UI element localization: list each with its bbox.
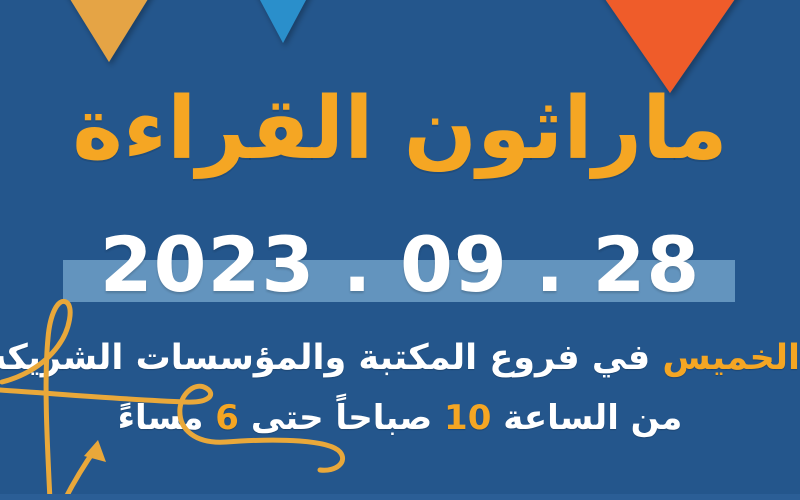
amber-triangle <box>52 0 166 62</box>
swirl-arrow-head <box>84 440 106 462</box>
page-title: ماراثون القراءة <box>0 86 800 172</box>
subtitle-line-1: الخميس في فروع المكتبة والمؤسسات الشريكة <box>0 336 800 380</box>
hours-end-time: 6 <box>215 398 239 438</box>
event-location-label: في فروع المكتبة والمؤسسات الشريكة <box>0 338 650 378</box>
hours-middle-label: صباحاً حتى <box>251 398 432 438</box>
poster-canvas: ماراثون القراءة 2023 . 09 . 28 الخميس في… <box>0 0 800 500</box>
swirl-arrow-shaft <box>62 448 96 500</box>
blue-triangle <box>244 0 322 43</box>
event-date-block: 2023 . 09 . 28 <box>0 224 800 314</box>
event-day-label: الخميس <box>662 338 800 378</box>
hours-start-time: 10 <box>444 398 491 438</box>
swirl-decoration <box>0 290 420 500</box>
hours-prefix-label: من الساعة <box>503 398 682 438</box>
subtitle-line-2: من الساعة 10 صباحاً حتى 6 مساءً <box>0 396 800 440</box>
event-date: 2023 . 09 . 28 <box>0 224 800 306</box>
bottom-accent-strip <box>0 494 800 500</box>
hours-suffix-label: مساءً <box>118 398 204 438</box>
